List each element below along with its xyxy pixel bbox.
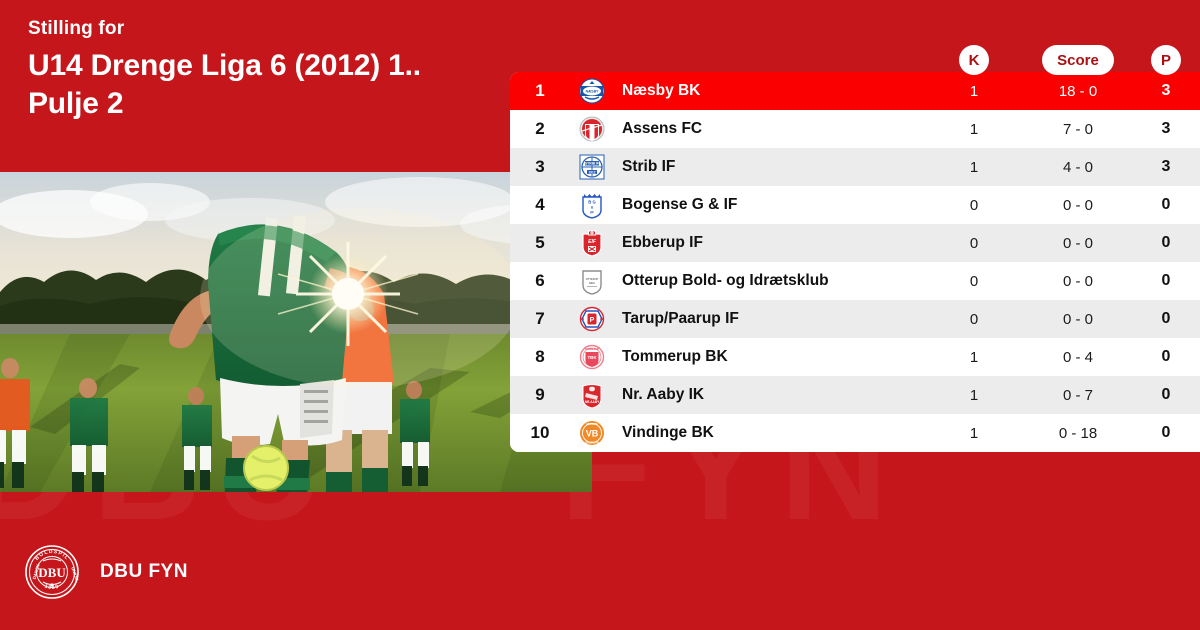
row-points: 3 [1132,120,1200,138]
row-matches: 0 [924,273,1024,290]
footer-label: DBU FYN [100,561,188,583]
svg-text:BOLDKLUB: BOLDKLUB [585,442,599,445]
row-position: 9 [510,385,570,405]
table-row[interactable]: 3 STRIB IF 1912 Strib IF 1 4 - 0 3 [510,148,1200,186]
row-position: 5 [510,233,570,253]
row-matches: 0 [924,235,1024,252]
row-matches: 1 [924,349,1024,366]
row-matches: 0 [924,311,1024,328]
table-row[interactable]: 8 TBK TOMMERUP Tommerup BK 1 0 - 4 0 [510,338,1200,376]
row-matches: 1 [924,83,1024,100]
row-team-name: Bogense G & IF [614,196,924,214]
naesby-bk-crest: NÆSBY [570,78,614,104]
page-title: U14 Drenge Liga 6 (2012) 1.. Pulje 2 [28,47,508,124]
svg-text:DBU: DBU [38,565,66,580]
dbu-seal-icon: BOLDSPIL 1889 DANSK UNION DBU [24,544,80,600]
table-row[interactable]: 2 Assens FC 1 7 - 0 3 [510,110,1200,148]
svg-text:VB: VB [586,429,599,439]
row-position: 7 [510,309,570,329]
row-score: 0 - 4 [1024,349,1132,366]
row-score: 7 - 0 [1024,121,1132,138]
row-points: 0 [1132,348,1200,366]
header-cell-score: Score [1024,45,1132,75]
row-points: 0 [1132,310,1200,328]
table-row[interactable]: 6 OTTERUP B&IK Otterup Bold- og Idrætskl… [510,262,1200,300]
row-score: 0 - 18 [1024,425,1132,442]
svg-text:EIF: EIF [588,239,597,245]
strib-if-crest: STRIB IF 1912 [570,154,614,180]
row-team-name: Tarup/Paarup IF [614,310,924,328]
svg-text:TBK: TBK [587,355,597,360]
table-row[interactable]: 7 P Tarup/Paarup IF 0 0 - 0 0 [510,300,1200,338]
header-block: Stilling for U14 Drenge Liga 6 (2012) 1.… [28,18,508,124]
table-row[interactable]: 1 NÆSBY Næsby BK 1 18 - 0 3 [510,72,1200,110]
ebberup-if-crest: EIF [570,230,614,257]
vindinge-bk-crest: VB VINDINGE BOLDKLUB [570,420,614,446]
row-score: 0 - 0 [1024,311,1132,328]
row-team-name: Tommerup BK [614,348,924,366]
page-title-line-2: Pulje 2 [28,85,508,123]
svg-text:TOMMERUP: TOMMERUP [585,348,599,351]
header-cell-points: P [1132,45,1200,75]
row-score: 0 - 0 [1024,273,1132,290]
row-team-name: Otterup Bold- og Idrætsklub [614,272,924,290]
row-position: 4 [510,195,570,215]
header-kicker: Stilling for [28,18,508,40]
row-team-name: Assens FC [614,120,924,138]
svg-text:B&IK: B&IK [589,282,595,285]
tarup-paarup-if-crest: P [570,306,614,332]
row-position: 1 [510,81,570,101]
page-title-line-1: U14 Drenge Liga 6 (2012) 1.. [28,47,508,85]
row-team-name: Ebberup IF [614,234,924,252]
row-points: 3 [1132,158,1200,176]
row-points: 0 [1132,196,1200,214]
row-score: 0 - 0 [1024,197,1132,214]
row-points: 0 [1132,424,1200,442]
row-score: 0 - 0 [1024,235,1132,252]
bogense-g-if-crest: B G & IF [570,192,614,219]
otterup-bik-crest: OTTERUP B&IK [570,268,614,295]
row-position: 3 [510,157,570,177]
svg-text:P: P [590,317,595,324]
football-action-photo [0,172,592,492]
svg-text:IF: IF [590,209,594,214]
row-position: 6 [510,271,570,291]
standings-table: 1 NÆSBY Næsby BK 1 18 - 0 3 2 [510,72,1200,452]
row-points: 3 [1132,82,1200,100]
table-row[interactable]: 4 B G & IF Bogense G & IF 0 0 - 0 0 [510,186,1200,224]
column-header-p[interactable]: P [1151,45,1181,75]
row-matches: 1 [924,121,1024,138]
footer-brand: BOLDSPIL 1889 DANSK UNION DBU DBU FYN [24,544,188,600]
row-position: 10 [510,423,570,443]
svg-text:1912: 1912 [588,170,595,174]
row-points: 0 [1132,234,1200,252]
svg-text:OTTERUP: OTTERUP [586,277,599,281]
svg-text:STRIB IF: STRIB IF [585,162,599,166]
row-matches: 1 [924,159,1024,176]
row-position: 2 [510,119,570,139]
nr-aaby-ik-crest: NR.AABY [570,382,614,409]
assens-fc-crest [570,116,614,142]
row-team-name: Strib IF [614,158,924,176]
row-team-name: Næsby BK [614,82,924,100]
table-row[interactable]: 9 NR.AABY Nr. Aaby IK 1 0 - 7 0 [510,376,1200,414]
row-matches: 1 [924,387,1024,404]
svg-text:NR.AABY: NR.AABY [585,400,600,404]
row-matches: 0 [924,197,1024,214]
row-points: 0 [1132,272,1200,290]
row-score: 18 - 0 [1024,83,1132,100]
table-row[interactable]: 10 VB VINDINGE BOLDKLUB Vindinge BK 1 0 … [510,414,1200,452]
row-score: 4 - 0 [1024,159,1132,176]
row-team-name: Vindinge BK [614,424,924,442]
svg-text:B G: B G [588,199,595,204]
table-row[interactable]: 5 EIF Ebberup IF 0 0 - 0 0 [510,224,1200,262]
row-position: 8 [510,347,570,367]
column-header-k[interactable]: K [959,45,989,75]
row-matches: 1 [924,425,1024,442]
column-header-score[interactable]: Score [1042,45,1114,75]
svg-text:VINDINGE: VINDINGE [586,423,598,426]
svg-text:NÆSBY: NÆSBY [586,90,600,94]
svg-text:BOLDSPIL: BOLDSPIL [34,549,70,562]
row-points: 0 [1132,386,1200,404]
row-score: 0 - 7 [1024,387,1132,404]
header-cell-matches: K [924,45,1024,75]
tommerup-bk-crest: TBK TOMMERUP [570,344,614,370]
row-team-name: Nr. Aaby IK [614,386,924,404]
